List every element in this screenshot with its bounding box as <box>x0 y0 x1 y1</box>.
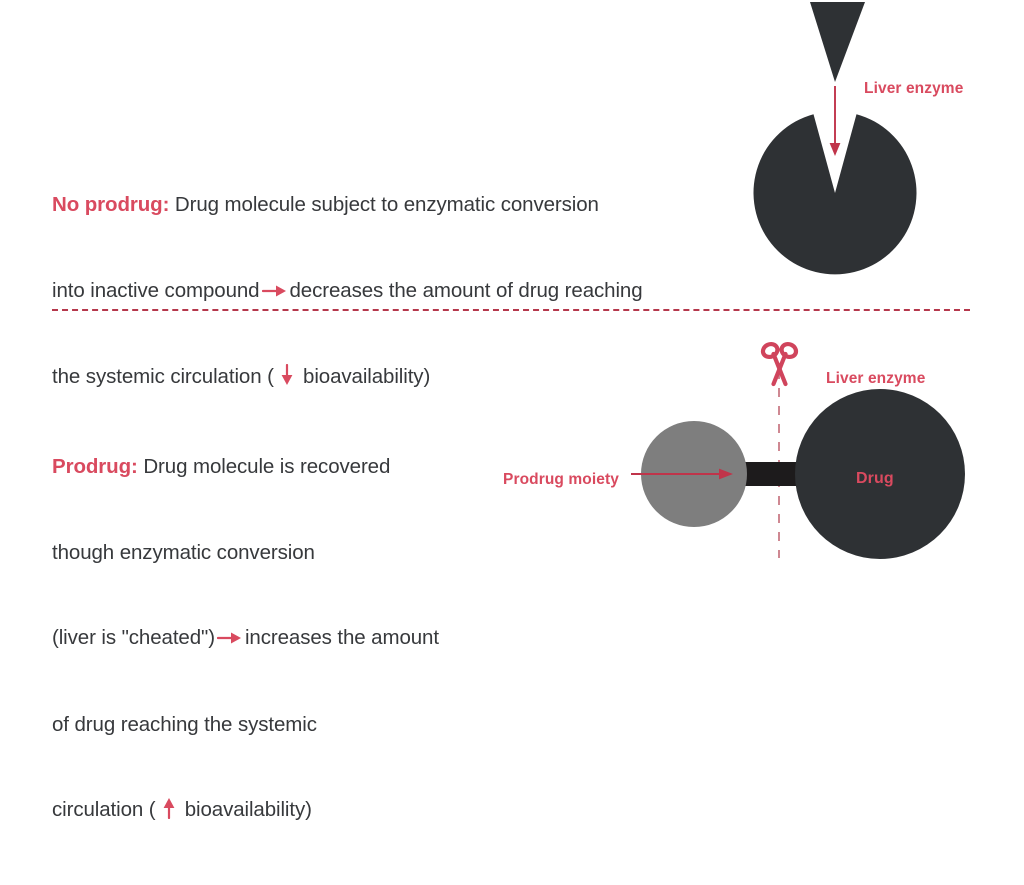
no-prodrug-line-2: into inactive compounddecreases the amou… <box>52 277 752 307</box>
no-prodrug-line-1-text: Drug molecule subject to enzymatic conve… <box>169 193 599 216</box>
prodrug-line-3: (liver is "cheated")increases the amount <box>52 624 552 654</box>
liver-enzyme-label-bottom: Liver enzyme <box>826 370 925 388</box>
prodrug-lead: Prodrug: <box>52 455 138 478</box>
no-prodrug-line-3-before: the systemic circulation ( <box>52 365 279 388</box>
prodrug-line-3-before: (liver is "cheated") <box>52 626 215 649</box>
prodrug-line-4: of drug reaching the systemic <box>52 711 552 740</box>
slide-canvas: No prodrug: Drug molecule subject to enz… <box>0 0 1024 576</box>
no-prodrug-line-1: No prodrug: Drug molecule subject to enz… <box>52 191 752 220</box>
right-arrow-icon <box>217 625 243 654</box>
prodrug-line-5: circulation ( bioavailability) <box>52 796 552 828</box>
no-prodrug-line-2-after: decreases the amount of drug reaching <box>290 279 643 302</box>
linker-bond <box>738 462 800 486</box>
prodrug-paragraph: Prodrug: Drug molecule is recovered thou… <box>52 396 552 885</box>
up-arrow-icon <box>162 797 176 828</box>
prodrug-line-1-text: Drug molecule is recovered <box>138 455 391 478</box>
no-prodrug-line-2-before: into inactive compound <box>52 279 260 302</box>
prodrug-line-5-after: bioavailability) <box>179 798 312 821</box>
right-arrow-icon <box>262 278 288 307</box>
down-arrow-icon <box>280 364 294 395</box>
prodrug-line-5-before: circulation ( <box>52 798 161 821</box>
enzyme-attack-arrow-icon <box>830 86 841 156</box>
drug-label: Drug <box>856 470 894 488</box>
prodrug-line-3-after: increases the amount <box>245 626 439 649</box>
prodrug-diagram <box>490 340 1024 576</box>
no-prodrug-lead: No prodrug: <box>52 193 169 216</box>
no-prodrug-diagram <box>735 0 1024 290</box>
liver-enzyme-label-top: Liver enzyme <box>864 80 963 98</box>
section-divider <box>52 309 970 311</box>
enzyme-wedge-icon <box>810 2 865 82</box>
prodrug-line-1: Prodrug: Drug molecule is recovered <box>52 453 552 482</box>
prodrug-moiety-label: Prodrug moiety <box>503 471 619 489</box>
no-prodrug-line-3-after: bioavailability) <box>297 365 430 388</box>
prodrug-line-2: though enzymatic conversion <box>52 539 552 568</box>
